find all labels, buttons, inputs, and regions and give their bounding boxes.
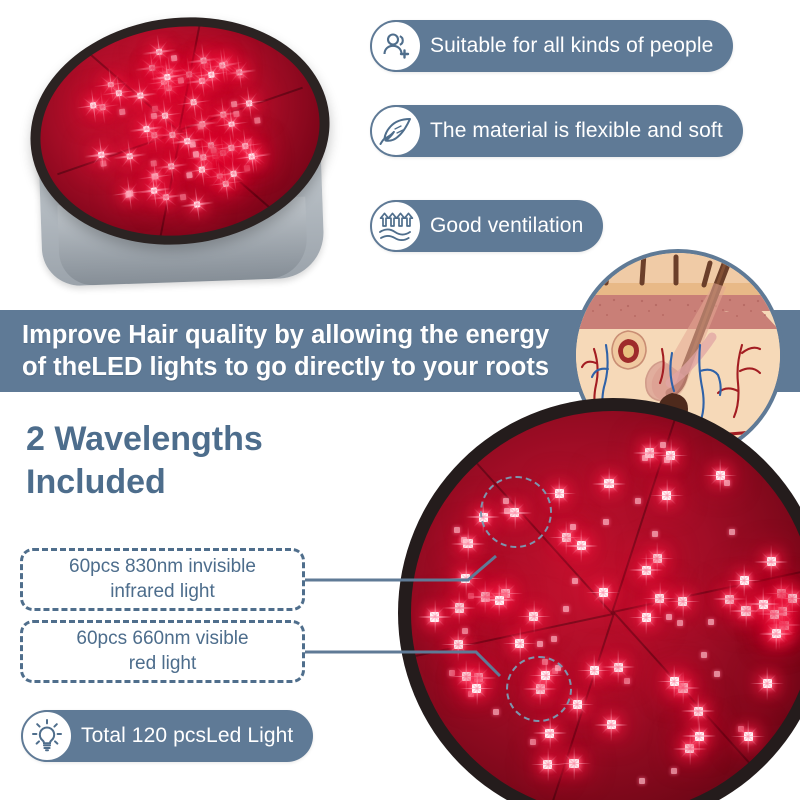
spec-label: 60pcs 830nm invisible infrared light xyxy=(59,555,266,604)
led-light xyxy=(642,455,648,461)
led-light xyxy=(461,574,470,583)
led-light xyxy=(230,170,237,177)
total-led-count-pill[interactable]: Total 120 pcsLed Light xyxy=(22,710,313,762)
led-light xyxy=(529,612,538,621)
led-light xyxy=(228,121,235,128)
led-light xyxy=(741,606,750,615)
led-light xyxy=(662,491,671,500)
led-light xyxy=(198,167,205,174)
led-light xyxy=(624,678,630,684)
feather-icon xyxy=(370,105,422,157)
led-light xyxy=(545,729,554,738)
fabric-seam xyxy=(411,613,613,663)
led-light xyxy=(670,677,679,686)
led-light xyxy=(148,65,155,72)
led-light xyxy=(562,533,571,542)
led-light xyxy=(642,613,651,622)
led-light xyxy=(767,557,776,566)
lightbulb-icon xyxy=(21,710,73,762)
led-light xyxy=(493,709,499,715)
led-light xyxy=(555,489,564,498)
led-light xyxy=(759,600,768,609)
led-light xyxy=(763,679,772,688)
callout-ring-infrared xyxy=(480,476,552,548)
led-light xyxy=(454,640,463,649)
spec-box-infrared: 60pcs 830nm invisible infrared light xyxy=(20,548,305,611)
led-light xyxy=(515,639,524,648)
led-light xyxy=(716,471,725,480)
led-light xyxy=(572,578,578,584)
led-light xyxy=(168,163,175,170)
led-light xyxy=(577,541,586,550)
led-light xyxy=(740,576,749,585)
feature-pill-ventilation[interactable]: Good ventilation xyxy=(371,200,603,252)
led-light xyxy=(725,595,734,604)
led-light xyxy=(607,720,616,729)
fabric-seam xyxy=(611,411,684,613)
led-light xyxy=(137,92,144,99)
spec-box-red: 60pcs 660nm visible red light xyxy=(20,620,305,683)
callout-ring-red xyxy=(506,656,572,722)
led-light xyxy=(193,201,200,208)
ventilation-arrows-icon xyxy=(370,200,422,252)
led-light xyxy=(537,641,543,647)
led-light xyxy=(169,131,176,138)
led-light xyxy=(708,619,714,625)
led-light xyxy=(655,594,664,603)
page-title: 2 Wavelengths Included xyxy=(26,418,263,503)
led-light xyxy=(461,537,467,543)
infographic-page: Suitable for all kinds of people The mat… xyxy=(0,0,800,800)
led-hair-growth-cap-photo xyxy=(18,14,348,299)
led-light xyxy=(677,620,683,626)
led-light xyxy=(178,77,185,84)
led-panel-closeup xyxy=(398,398,800,800)
led-light xyxy=(639,778,645,784)
led-light xyxy=(635,498,641,504)
people-plus-icon xyxy=(370,20,422,72)
led-light xyxy=(660,442,666,448)
led-light xyxy=(186,172,193,179)
led-light xyxy=(127,190,134,197)
feature-pill-label: The material is flexible and soft xyxy=(430,119,723,143)
feature-pill-label: Good ventilation xyxy=(430,214,583,238)
led-light xyxy=(156,49,163,56)
led-light xyxy=(694,707,703,716)
led-light xyxy=(231,101,238,108)
led-light xyxy=(127,153,134,160)
led-light xyxy=(772,629,781,638)
led-light xyxy=(170,55,177,62)
feature-pill-label: Suitable for all kinds of people xyxy=(430,34,713,58)
led-light xyxy=(614,663,623,672)
led-light xyxy=(563,606,569,612)
led-light xyxy=(530,739,536,745)
led-light xyxy=(90,102,97,109)
led-light xyxy=(192,151,199,158)
spec-label: 60pcs 660nm visible red light xyxy=(66,627,258,676)
led-light xyxy=(604,479,613,488)
led-light xyxy=(455,603,464,612)
led-light xyxy=(143,126,150,133)
led-light xyxy=(695,732,704,741)
led-light xyxy=(551,636,557,642)
led-light xyxy=(197,123,204,130)
led-light xyxy=(164,74,171,81)
led-light xyxy=(678,597,687,606)
led-light xyxy=(162,112,169,119)
led-light xyxy=(666,614,672,620)
led-light xyxy=(603,519,609,525)
led-light xyxy=(462,628,468,634)
led-light xyxy=(191,99,198,106)
led-light xyxy=(724,480,730,486)
led-light xyxy=(495,596,504,605)
led-light xyxy=(671,768,677,774)
led-light xyxy=(543,760,552,769)
led-light xyxy=(236,69,243,76)
led-light xyxy=(98,151,105,158)
led-light xyxy=(701,652,707,658)
led-light xyxy=(744,732,753,741)
feature-pill-material[interactable]: The material is flexible and soft xyxy=(371,105,743,157)
disc-face-leds xyxy=(411,411,800,800)
led-light xyxy=(430,612,439,621)
led-light xyxy=(664,457,670,463)
led-light xyxy=(454,527,460,533)
led-light xyxy=(254,117,261,124)
led-light xyxy=(729,529,735,535)
led-light xyxy=(472,684,481,693)
led-light xyxy=(208,71,215,78)
feature-pill-suitable[interactable]: Suitable for all kinds of people xyxy=(371,20,733,72)
led-light xyxy=(246,100,253,107)
led-light xyxy=(599,588,608,597)
led-light xyxy=(449,670,455,676)
led-light xyxy=(116,90,123,97)
led-light xyxy=(714,671,720,677)
led-light xyxy=(570,524,576,530)
led-light xyxy=(189,141,196,148)
led-light xyxy=(249,153,256,160)
led-light xyxy=(151,187,158,194)
led-light xyxy=(569,759,578,768)
led-light xyxy=(590,666,599,675)
total-led-count-label: Total 120 pcsLed Light xyxy=(81,724,293,748)
led-light xyxy=(573,700,582,709)
led-light xyxy=(652,531,658,537)
led-light xyxy=(642,566,651,575)
led-light xyxy=(201,57,208,64)
led-light xyxy=(242,143,249,150)
